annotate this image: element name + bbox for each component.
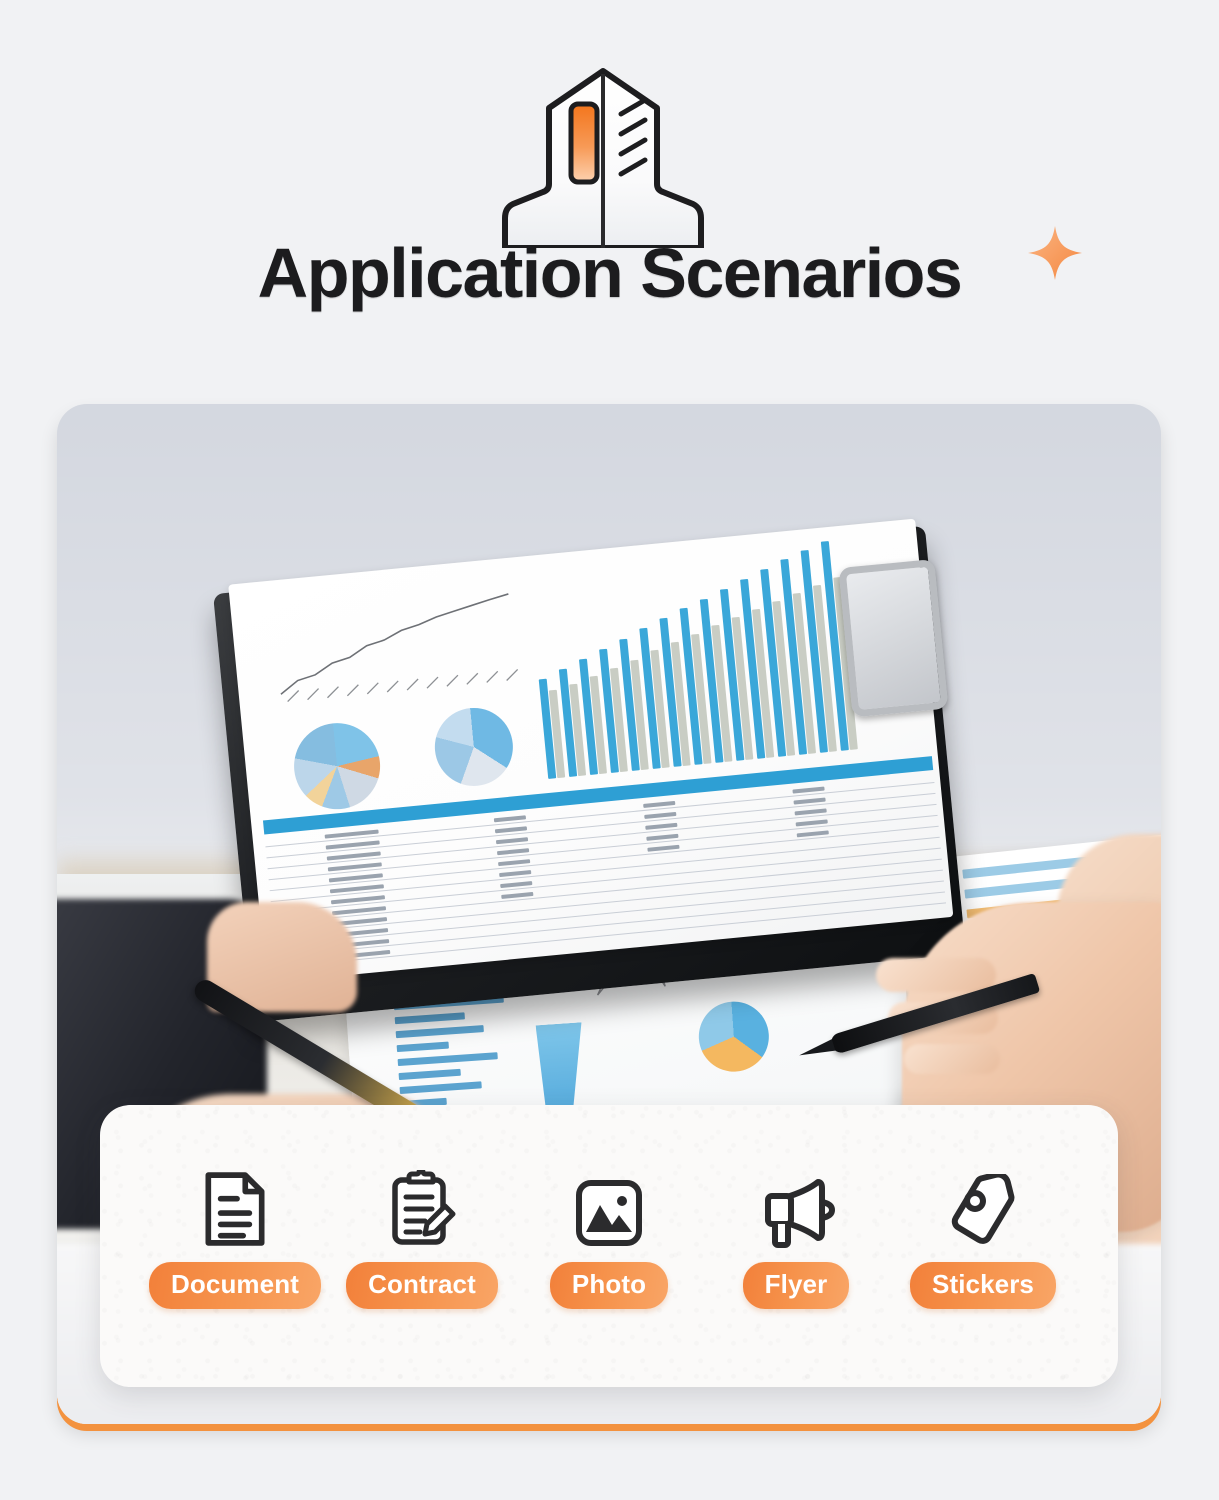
clipboard-pencil-icon — [387, 1170, 457, 1248]
feature-item-contract[interactable]: Contract — [329, 1170, 515, 1309]
badge-label-document[interactable]: Document — [149, 1262, 321, 1309]
sparkle-icon — [1024, 222, 1086, 284]
feature-item-stickers[interactable]: Stickers — [890, 1170, 1076, 1309]
feature-badge-row: Document Contract — [100, 1105, 1118, 1387]
feature-item-document[interactable]: Document — [142, 1170, 328, 1309]
document-icon — [202, 1170, 268, 1248]
badge-label-photo[interactable]: Photo — [550, 1262, 668, 1309]
feature-item-photo[interactable]: Photo — [516, 1170, 702, 1309]
image-icon — [573, 1170, 645, 1248]
laminator-device-icon — [497, 66, 709, 248]
header: Application Scenarios — [0, 0, 1219, 390]
feature-card: Document Contract — [100, 1105, 1118, 1387]
tag-icon — [946, 1170, 1020, 1248]
badge-label-stickers[interactable]: Stickers — [910, 1262, 1056, 1309]
badge-label-flyer[interactable]: Flyer — [743, 1262, 850, 1309]
badge-label-contract[interactable]: Contract — [346, 1262, 498, 1309]
clipboard-clip — [838, 559, 948, 718]
megaphone-icon — [756, 1170, 836, 1248]
feature-item-flyer[interactable]: Flyer — [703, 1170, 889, 1309]
